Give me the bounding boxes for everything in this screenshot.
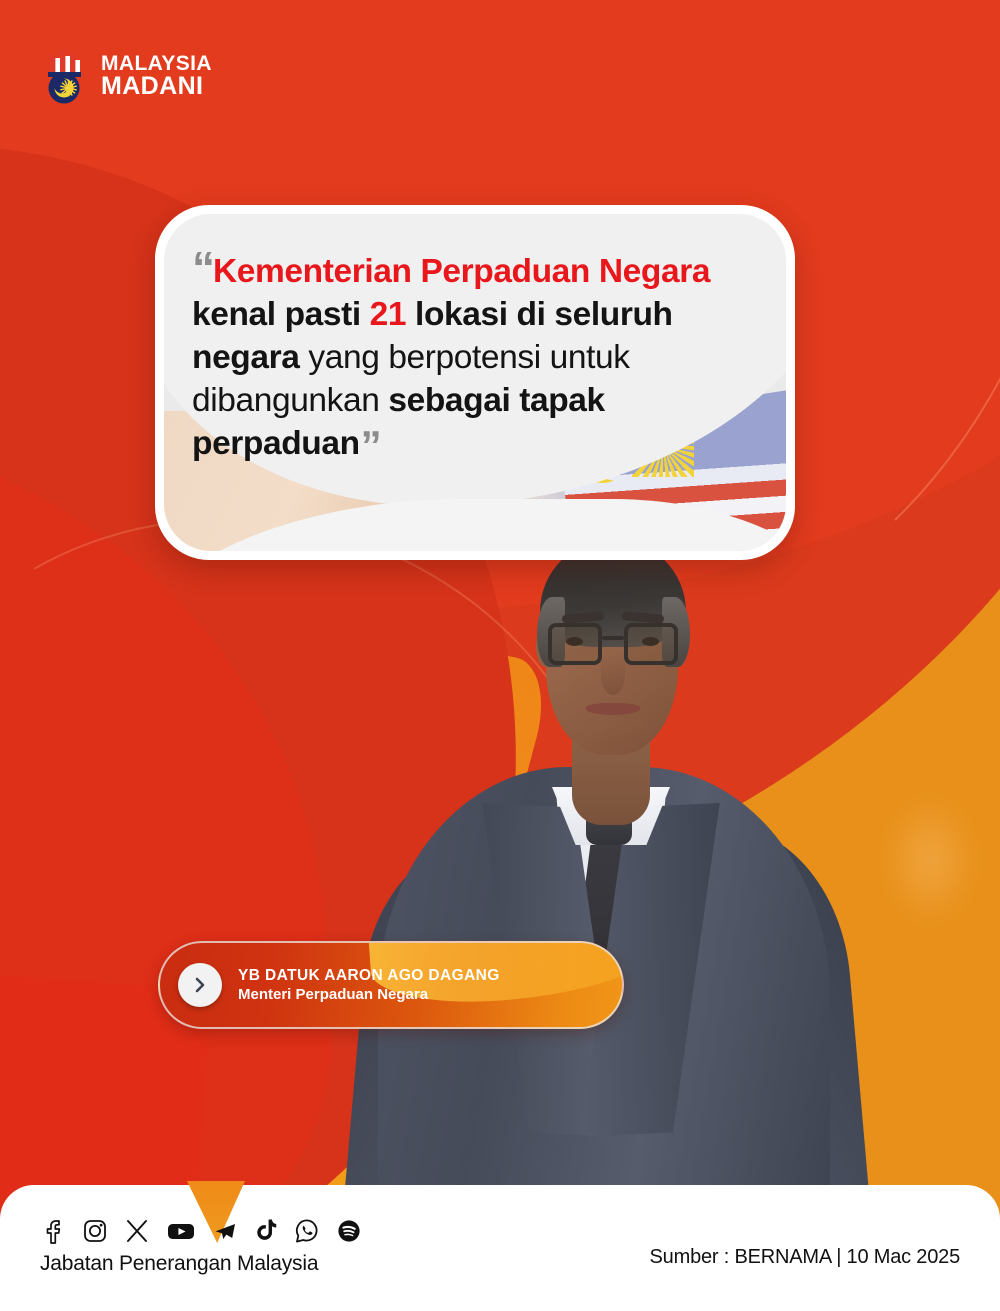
quote-segment-2: 21 bbox=[370, 296, 406, 333]
quote-segment-4: negara bbox=[192, 339, 299, 376]
minister-portrait bbox=[318, 505, 878, 1205]
malaysia-madani-logo: MALAYSIA MADANI bbox=[40, 48, 212, 104]
badge-chevron-button[interactable] bbox=[178, 963, 222, 1007]
madani-logo-mark-icon bbox=[40, 48, 90, 104]
quote-segment-0: Kementerian Perpaduan Negara bbox=[213, 253, 710, 290]
quote-text: “Kementerian Perpaduan Negara kenal past… bbox=[192, 250, 772, 465]
footer-left-block: Jabatan Penerangan Malaysia bbox=[40, 1213, 362, 1276]
poster-canvas: MALAYSIA MADANI “Kementerian Perpaduan N… bbox=[0, 0, 1000, 1311]
logo-line-malaysia: MALAYSIA bbox=[101, 54, 212, 74]
instagram-icon[interactable] bbox=[82, 1216, 108, 1244]
quote-open-mark: “ bbox=[192, 242, 213, 294]
portrait-mouth bbox=[586, 703, 640, 715]
social-icons-row bbox=[40, 1213, 362, 1247]
glasses-lens-left bbox=[548, 623, 602, 665]
department-name: Jabatan Penerangan Malaysia bbox=[40, 1252, 362, 1276]
whatsapp-icon[interactable] bbox=[294, 1216, 320, 1244]
chevron-right-icon bbox=[191, 976, 209, 994]
glasses-lens-right bbox=[624, 623, 678, 665]
logo-line-madani: MADANI bbox=[101, 74, 212, 98]
quote-card: “Kementerian Perpaduan Negara kenal past… bbox=[155, 205, 795, 560]
portrait-nose bbox=[601, 655, 625, 695]
speaker-title: Menteri Perpaduan Negara bbox=[238, 985, 500, 1004]
speaker-name: YB DATUK AARON AGO DAGANG bbox=[238, 966, 500, 985]
portrait-chin bbox=[576, 717, 652, 743]
source-credit: Sumber : BERNAMA | 10 Mac 2025 bbox=[650, 1246, 960, 1269]
quote-segment-1: kenal pasti bbox=[192, 296, 370, 333]
quote-card-inner: “Kementerian Perpaduan Negara kenal past… bbox=[164, 214, 786, 551]
glasses-bridge bbox=[602, 636, 624, 640]
quote-segment-3: lokasi di seluruh bbox=[406, 296, 672, 333]
tiktok-icon[interactable] bbox=[254, 1216, 278, 1244]
speaker-name-badge: YB DATUK AARON AGO DAGANG Menteri Perpad… bbox=[158, 941, 624, 1029]
quote-close-mark: ” bbox=[361, 422, 380, 469]
telegram-icon[interactable] bbox=[212, 1216, 238, 1244]
facebook-icon[interactable] bbox=[40, 1216, 66, 1244]
badge-text-block: YB DATUK AARON AGO DAGANG Menteri Perpad… bbox=[238, 966, 500, 1004]
x-twitter-icon[interactable] bbox=[124, 1216, 150, 1244]
footer-bar: Jabatan Penerangan Malaysia Sumber : BER… bbox=[0, 1185, 1000, 1311]
madani-logo-wordmark: MALAYSIA MADANI bbox=[101, 54, 212, 98]
spotify-icon[interactable] bbox=[336, 1216, 362, 1244]
youtube-icon[interactable] bbox=[166, 1216, 196, 1244]
